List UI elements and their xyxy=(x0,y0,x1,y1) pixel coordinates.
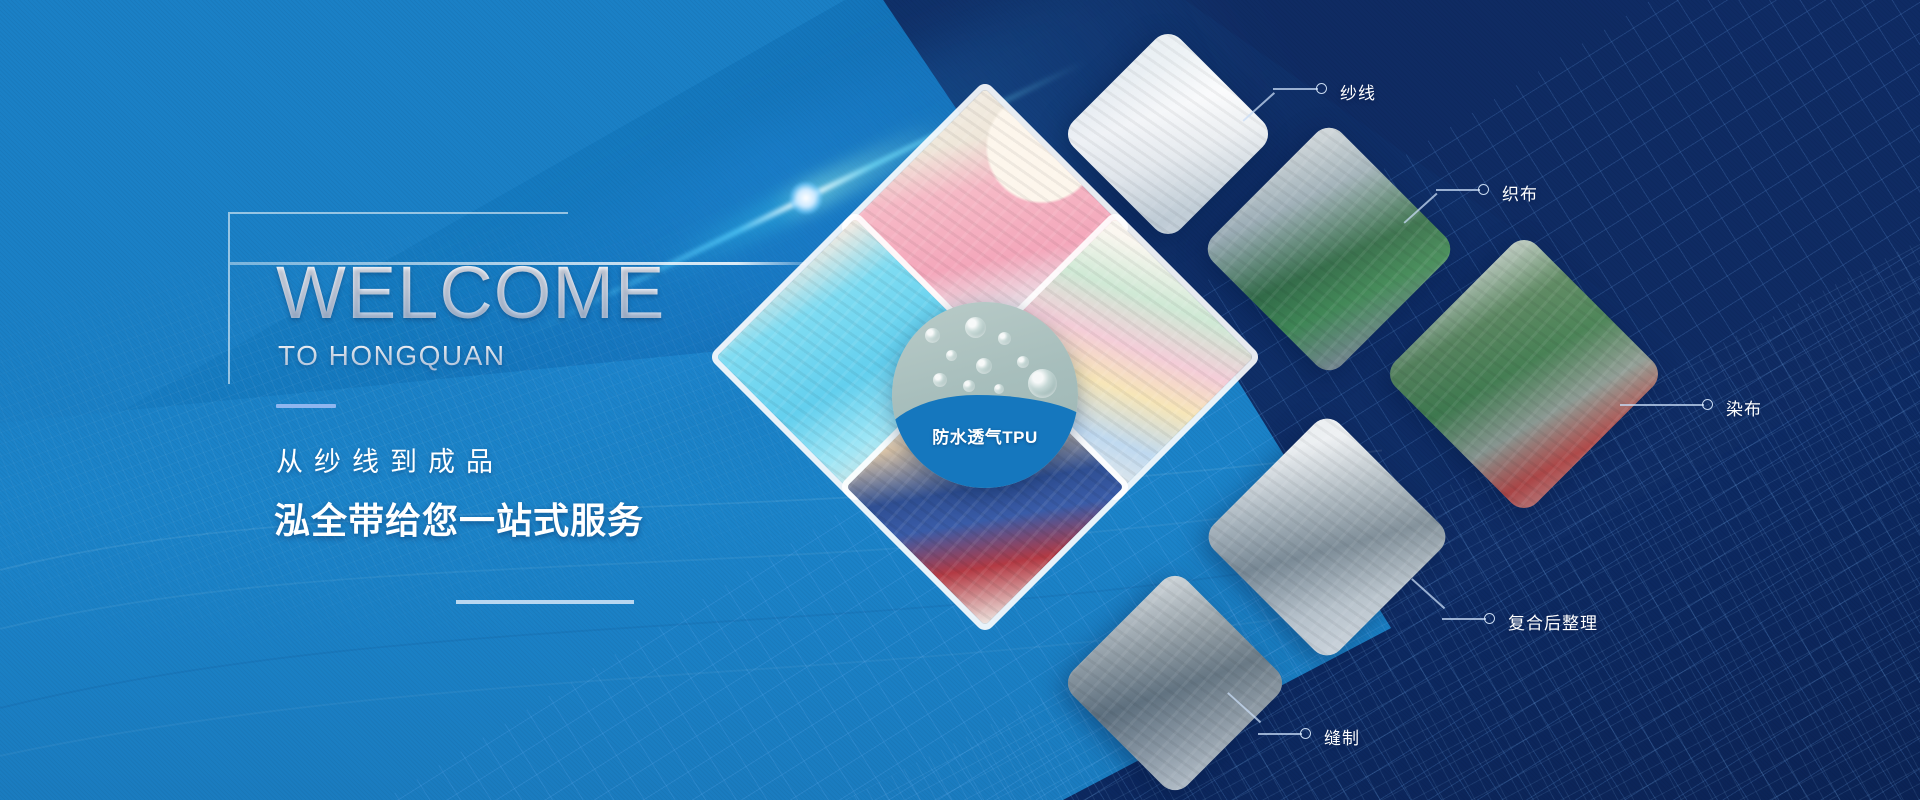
water-droplet-icon xyxy=(1017,356,1029,368)
page-title: WELCOME xyxy=(276,256,665,330)
tpu-badge[interactable]: 防水透气TPU xyxy=(892,302,1078,488)
callout-dot-icon xyxy=(1300,728,1311,739)
center-product-cluster: 防水透气TPU xyxy=(735,135,1235,635)
callout-leader-line xyxy=(1258,733,1302,735)
water-droplet-icon xyxy=(933,373,947,387)
water-droplet-icon xyxy=(965,317,986,338)
hero-banner: WELCOME TO HONGQUAN 从纱线到成品 泓全带给您一站式服务 xyxy=(0,0,1920,800)
callout-label: 复合后整理 xyxy=(1508,609,1598,634)
callout-label: 织布 xyxy=(1502,180,1538,205)
callout-dot-icon xyxy=(1478,184,1489,195)
callout-label: 纱线 xyxy=(1340,79,1376,104)
water-droplet-icon xyxy=(998,332,1011,345)
callout-leader-line xyxy=(1273,88,1318,90)
tagline-chinese: 从纱线到成品 xyxy=(276,440,504,479)
callout-leader-line xyxy=(1436,189,1480,191)
callout-dot-icon xyxy=(1702,399,1713,410)
water-droplet-icon xyxy=(1028,369,1057,398)
water-droplet-icon xyxy=(994,384,1004,394)
callout-label: 缝制 xyxy=(1324,724,1360,749)
water-droplet-icon xyxy=(925,328,940,343)
water-droplet-icon xyxy=(963,380,975,392)
headline-chinese: 泓全带给您一站式服务 xyxy=(274,492,644,544)
callout-dot-icon xyxy=(1316,83,1327,94)
callout-leader-line xyxy=(1620,404,1704,406)
callout-label: 染布 xyxy=(1726,395,1762,420)
tpu-badge-label: 防水透气TPU xyxy=(892,423,1078,448)
water-droplet-icon xyxy=(976,358,992,374)
water-droplet-icon xyxy=(946,350,957,361)
bottom-divider-line xyxy=(456,600,634,604)
callout-dot-icon xyxy=(1484,613,1495,624)
page-subtitle: TO HONGQUAN xyxy=(278,340,506,372)
accent-bar xyxy=(276,404,336,408)
callout-leader-line xyxy=(1442,618,1486,620)
